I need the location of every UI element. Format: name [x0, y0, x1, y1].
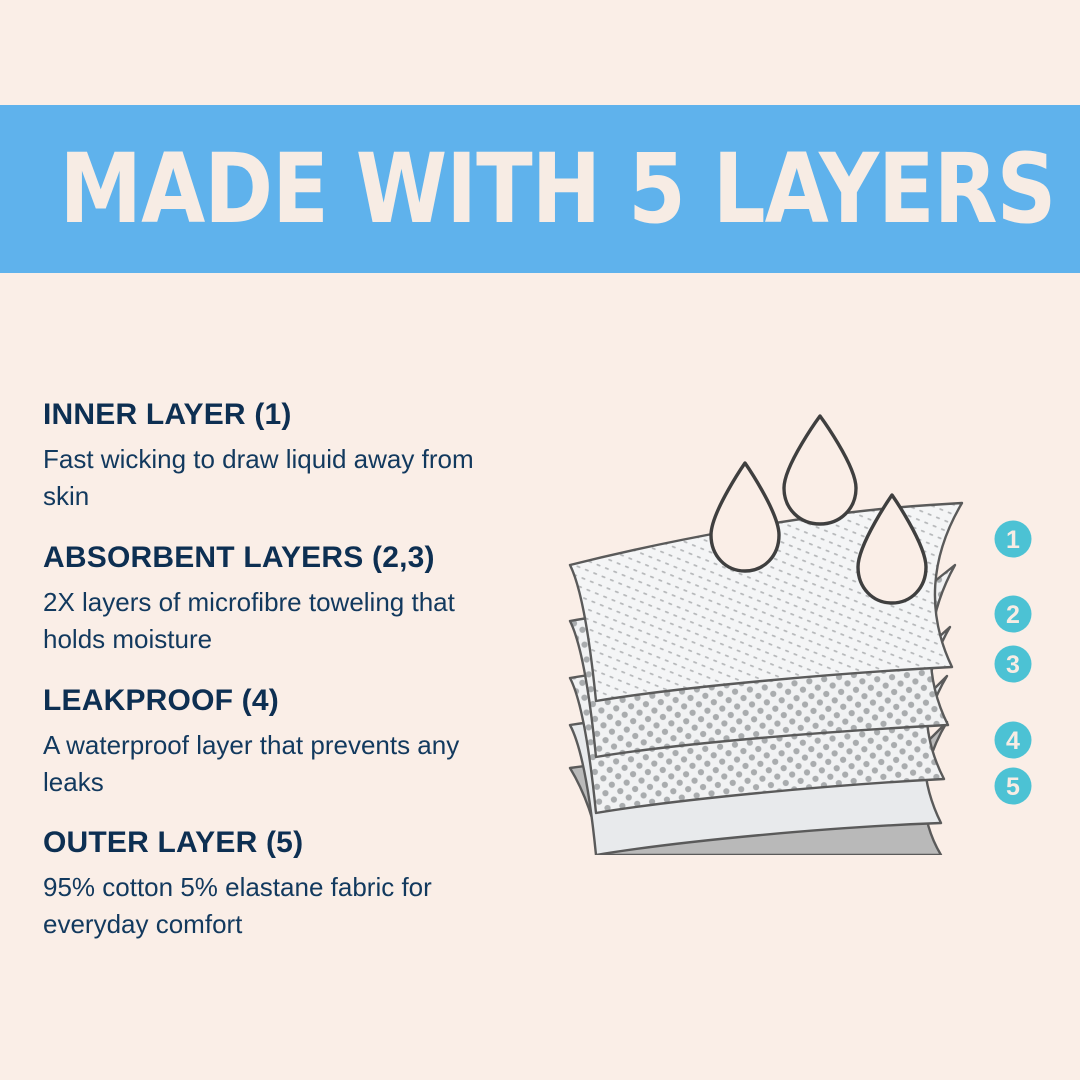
layer-description-absorbent: 2X layers of microfibre toweling that ho…	[43, 584, 503, 658]
header-banner: MADE WITH 5 LAYERS	[0, 105, 1080, 273]
layer-heading-outer: OUTER LAYER (5)	[43, 826, 513, 859]
layer-heading-absorbent: ABSORBENT LAYERS (2,3)	[43, 541, 513, 574]
page-title: MADE WITH 5 LAYERS	[0, 141, 1055, 237]
layer-badge-4-label: 4	[1006, 727, 1020, 755]
layer-heading-inner: INNER LAYER (1)	[43, 398, 513, 431]
layer-badge-3[interactable]: 3	[995, 646, 1032, 683]
layer-badge-1[interactable]: 1	[995, 521, 1032, 558]
layer-block-outer: OUTER LAYER (5) 95% cotton 5% elastane f…	[43, 826, 513, 943]
layer-badges: 1 2 3 4 5	[995, 521, 1032, 805]
layer-block-inner: INNER LAYER (1) Fast wicking to draw liq…	[43, 398, 513, 515]
layer-badge-4[interactable]: 4	[995, 722, 1032, 759]
layer-block-leakproof: LEAKPROOF (4) A waterproof layer that pr…	[43, 684, 513, 801]
layer-badge-2-label: 2	[1006, 601, 1020, 629]
water-drop-icon	[784, 416, 856, 524]
layer-badge-1-label: 1	[1006, 526, 1020, 554]
layer-description-list: INNER LAYER (1) Fast wicking to draw liq…	[43, 398, 513, 943]
layer-heading-leakproof: LEAKPROOF (4)	[43, 684, 513, 717]
layer-block-absorbent: ABSORBENT LAYERS (2,3) 2X layers of micr…	[43, 541, 513, 658]
layer-badge-5[interactable]: 5	[995, 768, 1032, 805]
layer-description-outer: 95% cotton 5% elastane fabric for everyd…	[43, 869, 503, 943]
water-drop-icon	[711, 463, 779, 571]
sheet-stack: 1 2 3 4 5	[570, 416, 1032, 855]
layer-description-inner: Fast wicking to draw liquid away from sk…	[43, 441, 503, 515]
layer-badge-2[interactable]: 2	[995, 596, 1032, 633]
layer-badge-3-label: 3	[1006, 651, 1020, 679]
layer-stack-illustration: 1 2 3 4 5	[500, 395, 1060, 855]
layer-description-leakproof: A waterproof layer that prevents any lea…	[43, 727, 503, 801]
layer-badge-5-label: 5	[1006, 773, 1020, 801]
